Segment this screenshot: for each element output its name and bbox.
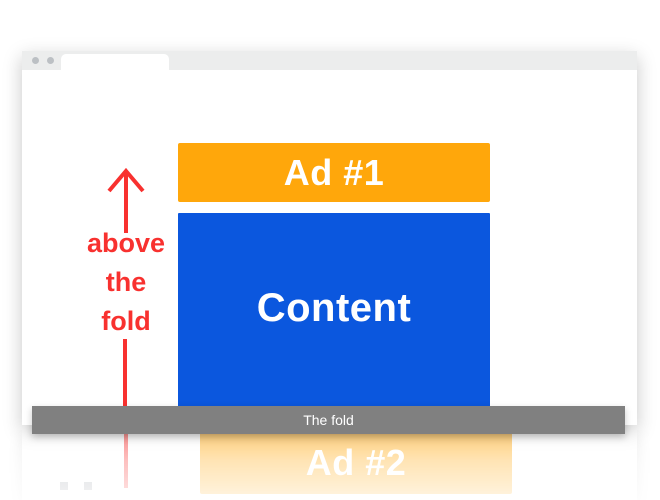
- page-block-ad1[interactable]: Ad #1: [178, 143, 490, 202]
- up-arrow-icon: [103, 165, 149, 235]
- above-the-fold-annotation: above the fold: [78, 165, 174, 425]
- the-fold-bar: The fold: [32, 406, 625, 434]
- window-dots-continuation: [60, 482, 92, 490]
- annotation-caption-line-2: the: [78, 263, 174, 302]
- window-dot-2-icon[interactable]: [47, 57, 54, 64]
- browser-viewport: above the fold Ad #1 Content: [22, 70, 637, 425]
- page-block-ad1-label: Ad #1: [284, 152, 385, 194]
- annotation-caption-line-1: above: [78, 224, 174, 263]
- page-block-content-label: Content: [257, 286, 412, 331]
- window-dot-2-continuation: [84, 482, 92, 490]
- browser-window: above the fold Ad #1 Content: [22, 51, 637, 425]
- annotation-caption-line-3: fold: [78, 302, 174, 341]
- window-dot-1-continuation: [60, 482, 68, 490]
- annotation-line-continuation: [124, 432, 128, 488]
- page-block-content[interactable]: Content: [178, 213, 490, 425]
- page-block-ad2-label: Ad #2: [306, 442, 407, 484]
- below-the-fold-fade: Ad #2: [0, 430, 660, 500]
- browser-tab[interactable]: [61, 54, 169, 70]
- the-fold-label: The fold: [303, 412, 354, 428]
- annotation-caption: above the fold: [78, 224, 174, 341]
- page-block-ad2[interactable]: Ad #2: [200, 432, 512, 494]
- diagram-stage: Ad #2: [0, 0, 660, 500]
- browser-window-continuation: Ad #2: [22, 430, 637, 500]
- below-the-fold-region: Ad #2: [0, 430, 660, 500]
- browser-chrome-bar: [22, 51, 637, 70]
- window-dot-1-icon[interactable]: [32, 57, 39, 64]
